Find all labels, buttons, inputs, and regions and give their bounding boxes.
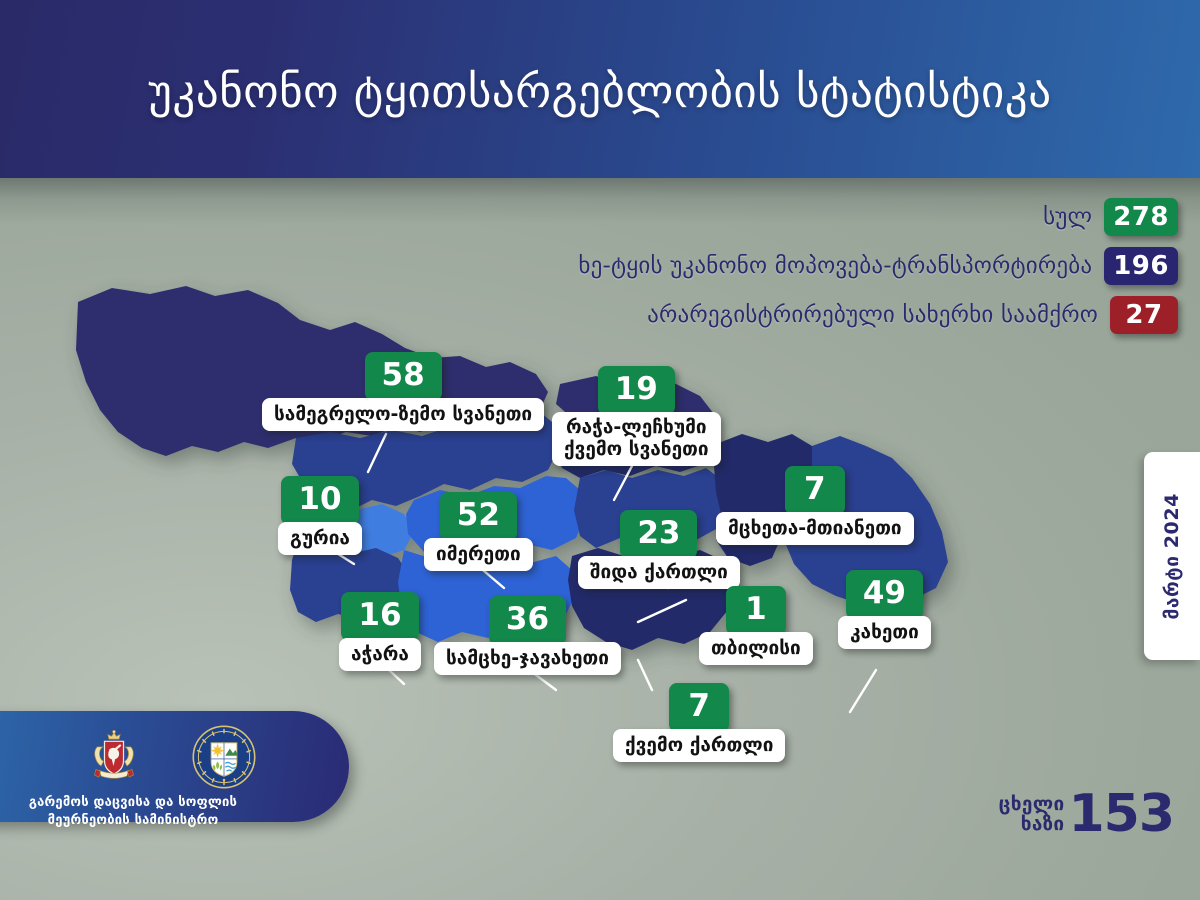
callout-samtskhe-javakheti: 36 სამცხე-ჯავახეთი: [434, 596, 621, 675]
callout-label: მცხეთა-მთიანეთი: [716, 512, 914, 545]
legend-row-unregistered-sawmill: არარეგისტრირებული სახერხი საამქრო 27: [647, 296, 1178, 334]
legend-label-total: სულ: [1043, 204, 1092, 230]
callout-label: კახეთი: [838, 616, 931, 649]
legend-label-illegal-logging: ხე-ტყის უკანონო მოპოვება-ტრანსპორტირება: [578, 253, 1092, 279]
date-tab: მარტი 2024: [1144, 452, 1200, 660]
callout-label: გურია: [278, 522, 362, 555]
callout-racha-lechkhumi: 19 რაჭა-ლეჩხუმი ქვემო სვანეთი: [552, 366, 721, 466]
callout-value: 19: [598, 366, 675, 415]
hotline-label: ცხელი ხაზი: [999, 795, 1065, 834]
callout-adjara: 16 აჭარა: [339, 592, 421, 671]
legend-row-illegal-logging: ხე-ტყის უკანონო მოპოვება-ტრანსპორტირება …: [578, 247, 1178, 285]
callout-value: 10: [281, 476, 358, 525]
date-tab-label: მარტი 2024: [1161, 493, 1183, 619]
callout-shida-kartli: 23 შიდა ქართლი: [578, 510, 740, 589]
callout-label: აჭარა: [339, 638, 421, 671]
georgia-coat-of-arms-icon: [86, 729, 142, 785]
callout-kvemo-kartli: 7 ქვემო ქართლი: [613, 683, 785, 762]
callout-value: 16: [341, 592, 418, 641]
ministry-seal-icon: [192, 725, 256, 789]
callout-kakheti: 49 კახეთი: [838, 570, 931, 649]
page-title: უკანონო ტყითსარგებლობის სტატისტიკა: [148, 69, 1051, 114]
hotline-block: ცხელი ხაზი 153: [999, 791, 1174, 838]
callout-label: იმერეთი: [424, 538, 533, 571]
legend-value-unregistered-sawmill: 27: [1110, 296, 1178, 334]
legend-row-total: სულ 278: [1043, 198, 1178, 236]
callout-label: ქვემო ქართლი: [613, 729, 785, 762]
ministry-footer: გარემოს დაცვისა და სოფლის მეურნეობის სამ…: [0, 711, 349, 822]
callout-tbilisi: 1 თბილისი: [699, 586, 813, 665]
callout-value: 52: [440, 492, 517, 541]
callout-label: რაჭა-ლეჩხუმი ქვემო სვანეთი: [552, 412, 721, 466]
callout-label: სამცხე-ჯავახეთი: [434, 642, 621, 675]
callout-label: სამეგრელო-ზემო სვანეთი: [262, 398, 544, 431]
header-banner: უკანონო ტყითსარგებლობის სტატისტიკა: [0, 0, 1200, 178]
callout-guria: 10 გურია: [278, 476, 362, 555]
callout-value: 7: [785, 466, 845, 515]
hotline-number: 153: [1068, 791, 1174, 838]
callout-value: 23: [620, 510, 697, 559]
callout-value: 7: [669, 683, 729, 732]
callout-imereti: 52 იმერეთი: [424, 492, 533, 571]
callout-value: 58: [365, 352, 442, 401]
infographic-canvas: უკანონო ტყითსარგებლობის სტატისტიკა სულ 2…: [0, 0, 1200, 900]
callout-label: შიდა ქართლი: [578, 556, 740, 589]
legend-value-total: 278: [1104, 198, 1178, 236]
callout-samegrelo-zemo-svaneti: 58 სამეგრელო-ზემო სვანეთი: [262, 352, 544, 431]
legend-panel: სულ 278 ხე-ტყის უკანონო მოპოვება-ტრანსპო…: [578, 198, 1178, 334]
callout-label: თბილისი: [699, 632, 813, 665]
callout-value: 49: [846, 570, 923, 619]
legend-label-unregistered-sawmill: არარეგისტრირებული სახერხი საამქრო: [647, 302, 1098, 328]
callout-value: 1: [726, 586, 786, 635]
legend-value-illegal-logging: 196: [1104, 247, 1178, 285]
callout-value: 36: [489, 596, 566, 645]
callout-mtskheta-mtianeti: 7 მცხეთა-მთიანეთი: [716, 466, 914, 545]
ministry-name: გარემოს დაცვისა და სოფლის მეურნეობის სამ…: [0, 794, 278, 829]
